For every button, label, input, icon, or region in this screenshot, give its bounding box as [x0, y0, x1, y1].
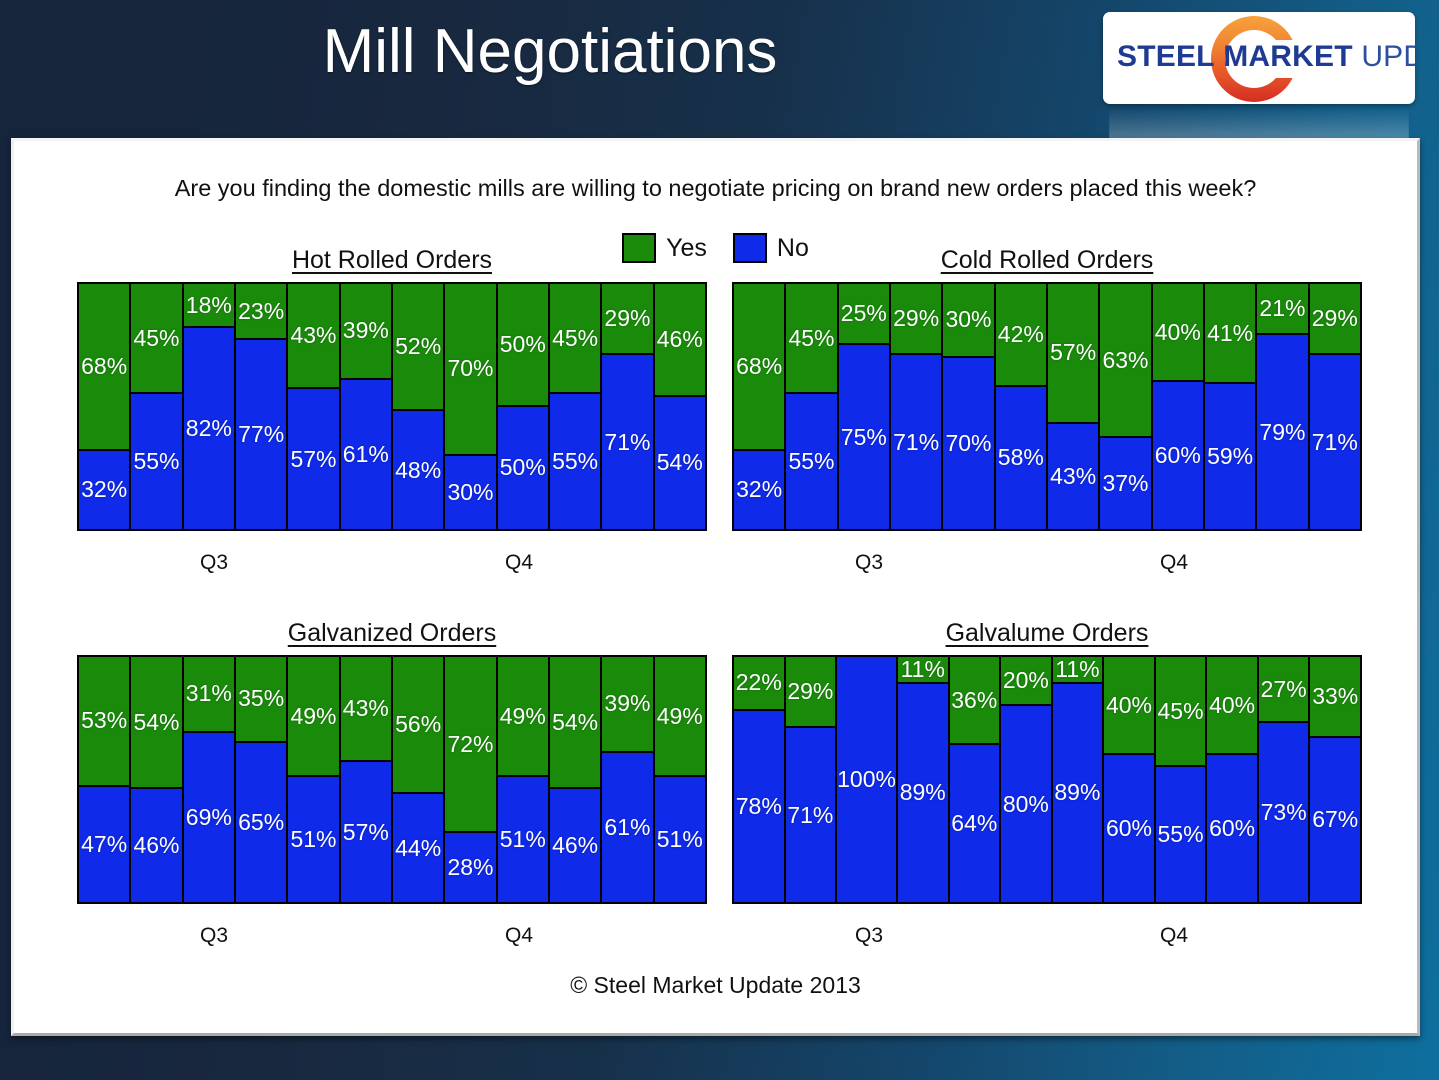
plot-area-galvanized-orders: 53%47%54%46%31%69%35%65%49%51%43%57%56%4…	[77, 655, 707, 904]
bar-value-label-no: 78%	[736, 795, 782, 818]
stacked-bar: 49%51%	[288, 657, 340, 902]
bar-segment-no: 37%	[1100, 438, 1150, 529]
stacked-bar: 45%55%	[1156, 657, 1208, 902]
stacked-bar: 63%37%	[1100, 284, 1152, 529]
bar-value-label-no: 28%	[447, 856, 493, 879]
bar-value-label-no: 89%	[1054, 781, 1100, 804]
axis-tick-label-q3: Q3	[200, 551, 228, 575]
bar-value-label-yes: 68%	[81, 355, 127, 378]
bar-value-label-no: 50%	[500, 456, 546, 479]
bar-value-label-no: 54%	[657, 451, 703, 474]
bar-segment-no: 70%	[943, 358, 993, 530]
bar-value-label-no: 58%	[998, 446, 1044, 469]
bar-value-label-no: 80%	[1003, 793, 1049, 816]
stacked-bar: 45%55%	[786, 284, 838, 529]
bar-segment-yes: 68%	[79, 284, 129, 451]
stacked-bar: 20%80%	[1001, 657, 1053, 902]
stacked-bar: 53%47%	[79, 657, 131, 902]
bar-segment-no: 57%	[341, 762, 391, 902]
bar-value-label-no: 57%	[343, 821, 389, 844]
bar-segment-no: 71%	[786, 728, 836, 902]
bar-segment-yes: 41%	[1205, 284, 1255, 384]
survey-question: Are you finding the domestic mills are w…	[14, 175, 1417, 202]
bar-value-label-no: 71%	[787, 804, 833, 827]
bar-segment-no: 55%	[1156, 767, 1206, 902]
bar-segment-yes: 45%	[1156, 657, 1206, 767]
x-axis-hot-rolled-orders: Q3Q4	[77, 531, 707, 577]
bar-segment-no: 46%	[550, 789, 600, 902]
bar-segment-yes: 11%	[898, 657, 948, 684]
chart-title-galvanized-orders: Galvanized Orders	[77, 619, 707, 648]
chart-title-cold-rolled-orders: Cold Rolled Orders	[732, 246, 1362, 275]
bar-value-label-no: 71%	[893, 431, 939, 454]
stacked-bar: 45%55%	[131, 284, 183, 529]
bar-segment-yes: 23%	[236, 284, 286, 340]
bar-value-label-yes: 20%	[1003, 669, 1049, 692]
bar-value-label-yes: 45%	[133, 327, 179, 350]
axis-tick-label-q3: Q3	[855, 551, 883, 575]
page-title: Mill Negotiations	[0, 16, 1100, 87]
bar-value-label-yes: 22%	[736, 671, 782, 694]
stacked-bar: 43%57%	[288, 284, 340, 529]
bar-segment-no: 65%	[236, 743, 286, 902]
stacked-bar: 21%79%	[1257, 284, 1309, 529]
stacked-bar: 29%71%	[602, 284, 654, 529]
axis-tick-label-q4: Q4	[505, 924, 533, 948]
bar-segment-no: 43%	[1048, 424, 1098, 529]
bar-value-label-yes: 29%	[604, 307, 650, 330]
bar-value-label-no: 71%	[604, 431, 650, 454]
plot-area-hot-rolled-orders: 68%32%45%55%18%82%23%77%43%57%39%61%52%4…	[77, 282, 707, 531]
bar-value-label-yes: 70%	[447, 357, 493, 380]
bar-value-label-no: 46%	[552, 834, 598, 857]
stacked-bar: 50%50%	[498, 284, 550, 529]
bar-segment-yes: 29%	[1310, 284, 1360, 355]
chart-galvanized-orders: Galvanized Orders53%47%54%46%31%69%35%65…	[77, 619, 707, 950]
stacked-bar: 18%82%	[184, 284, 236, 529]
bar-segment-no: 55%	[131, 394, 181, 529]
bar-value-label-no: 55%	[552, 450, 598, 473]
bar-value-label-no: 61%	[343, 443, 389, 466]
bar-value-label-yes: 18%	[186, 294, 232, 317]
bar-value-label-no: 60%	[1155, 444, 1201, 467]
plot-area-cold-rolled-orders: 68%32%45%55%25%75%29%71%30%70%42%58%57%4…	[732, 282, 1362, 531]
bar-segment-yes: 63%	[1100, 284, 1150, 438]
bar-segment-no: 51%	[655, 777, 705, 902]
stacked-bar: 54%46%	[131, 657, 183, 902]
bar-segment-yes: 40%	[1207, 657, 1257, 755]
stacked-bar: 45%55%	[550, 284, 602, 529]
bar-segment-no: 58%	[996, 387, 1046, 529]
slide-content-panel: Are you finding the domestic mills are w…	[11, 138, 1420, 1036]
bar-segment-yes: 68%	[734, 284, 784, 451]
bar-value-label-no: 100%	[837, 768, 896, 791]
stacked-bar: 40%60%	[1207, 657, 1259, 902]
bar-segment-yes: 30%	[943, 284, 993, 358]
bar-segment-no: 71%	[1310, 355, 1360, 529]
logo-card: STEEL MARKET UPDATE	[1103, 12, 1415, 104]
stacked-bar: 29%71%	[891, 284, 943, 529]
bar-value-label-yes: 43%	[290, 324, 336, 347]
bar-segment-yes: 49%	[655, 657, 705, 777]
bar-value-label-yes: 39%	[343, 319, 389, 342]
bar-segment-no: 32%	[734, 451, 784, 529]
bar-segment-no: 69%	[184, 733, 234, 902]
copyright-notice: © Steel Market Update 2013	[14, 972, 1417, 999]
bar-segment-no: 77%	[236, 340, 286, 529]
bar-value-label-no: 43%	[1050, 465, 1096, 488]
bar-value-label-yes: 33%	[1312, 685, 1358, 708]
plot-area-galvalume-orders: 22%78%29%71%100%11%89%36%64%20%80%11%89%…	[732, 655, 1362, 904]
stacked-bar: 40%60%	[1153, 284, 1205, 529]
bar-value-label-yes: 56%	[395, 713, 441, 736]
bar-segment-yes: 39%	[602, 657, 652, 753]
bar-segment-no: 59%	[1205, 384, 1255, 529]
bar-value-label-no: 89%	[900, 781, 946, 804]
logo-word-update: UPDATE	[1361, 40, 1415, 73]
axis-tick-label-q3: Q3	[855, 924, 883, 948]
bar-value-label-no: 69%	[186, 806, 232, 829]
bar-segment-yes: 72%	[445, 657, 495, 833]
bar-value-label-yes: 39%	[604, 692, 650, 715]
bar-segment-no: 71%	[602, 355, 652, 529]
bar-value-label-no: 59%	[1207, 445, 1253, 468]
bar-value-label-no: 65%	[238, 811, 284, 834]
bar-segment-yes: 18%	[184, 284, 234, 328]
bar-value-label-no: 82%	[186, 417, 232, 440]
bar-value-label-yes: 30%	[945, 308, 991, 331]
bar-segment-yes: 45%	[550, 284, 600, 394]
bar-segment-yes: 20%	[1001, 657, 1051, 706]
bar-segment-yes: 40%	[1104, 657, 1154, 755]
axis-tick-label-q4: Q4	[1160, 924, 1188, 948]
bar-segment-yes: 29%	[891, 284, 941, 355]
stacked-bar: 22%78%	[734, 657, 786, 902]
bar-segment-yes: 40%	[1153, 284, 1203, 382]
bar-value-label-yes: 57%	[1050, 341, 1096, 364]
bar-value-label-yes: 27%	[1261, 678, 1307, 701]
bar-segment-no: 71%	[891, 355, 941, 529]
bar-segment-yes: 52%	[393, 284, 443, 411]
logo-word-steel: STEEL	[1117, 40, 1215, 73]
stacked-bar: 57%43%	[1048, 284, 1100, 529]
bar-segment-no: 75%	[839, 345, 889, 529]
bar-value-label-yes: 49%	[500, 705, 546, 728]
bar-value-label-no: 71%	[1312, 431, 1358, 454]
bar-segment-no: 78%	[734, 711, 784, 902]
bar-segment-no: 51%	[498, 777, 548, 902]
bar-segment-no: 44%	[393, 794, 443, 902]
bar-value-label-yes: 25%	[841, 302, 887, 325]
stacked-bar: 35%65%	[236, 657, 288, 902]
bar-value-label-yes: 46%	[657, 328, 703, 351]
bar-value-label-no: 30%	[447, 481, 493, 504]
bar-value-label-yes: 21%	[1259, 297, 1305, 320]
bar-segment-no: 60%	[1104, 755, 1154, 902]
bar-value-label-no: 44%	[395, 837, 441, 860]
bar-value-label-no: 51%	[290, 828, 336, 851]
bar-segment-yes: 54%	[131, 657, 181, 789]
bar-segment-yes: 53%	[79, 657, 129, 787]
stacked-bar: 42%58%	[996, 284, 1048, 529]
stacked-bar: 33%67%	[1310, 657, 1360, 902]
bar-value-label-no: 57%	[290, 448, 336, 471]
bar-value-label-yes: 35%	[238, 687, 284, 710]
bar-segment-no: 48%	[393, 411, 443, 529]
bar-value-label-no: 77%	[238, 423, 284, 446]
bar-value-label-no: 32%	[736, 478, 782, 501]
bar-segment-no: 80%	[1001, 706, 1051, 902]
bar-value-label-yes: 49%	[657, 705, 703, 728]
axis-tick-label-q3: Q3	[200, 924, 228, 948]
chart-title-hot-rolled-orders: Hot Rolled Orders	[77, 246, 707, 275]
bar-value-label-no: 79%	[1259, 421, 1305, 444]
bar-value-label-yes: 45%	[1158, 700, 1204, 723]
bar-segment-no: 28%	[445, 833, 495, 902]
bar-segment-yes: 49%	[288, 657, 338, 777]
axis-tick-label-q4: Q4	[1160, 551, 1188, 575]
bar-value-label-yes: 23%	[238, 300, 284, 323]
bar-value-label-no: 48%	[395, 459, 441, 482]
bar-value-label-no: 75%	[841, 426, 887, 449]
bar-segment-no: 30%	[445, 456, 495, 530]
bar-segment-yes: 49%	[498, 657, 548, 777]
bar-segment-no: 54%	[655, 397, 705, 529]
bar-segment-yes: 21%	[1257, 284, 1307, 335]
bar-segment-no: 73%	[1259, 723, 1309, 902]
chart-title-galvalume-orders: Galvalume Orders	[732, 619, 1362, 648]
bar-segment-yes: 42%	[996, 284, 1046, 387]
bar-value-label-yes: 45%	[552, 327, 598, 350]
bar-segment-no: 67%	[1310, 738, 1360, 902]
bar-segment-yes: 33%	[1310, 657, 1360, 738]
bar-segment-yes: 56%	[393, 657, 443, 794]
bar-segment-no: 61%	[341, 380, 391, 529]
bar-value-label-yes: 53%	[81, 709, 127, 732]
axis-tick-label-q4: Q4	[505, 551, 533, 575]
bar-value-label-yes: 31%	[186, 682, 232, 705]
stacked-bar: 46%54%	[655, 284, 705, 529]
bar-value-label-no: 73%	[1261, 801, 1307, 824]
chart-galvalume-orders: Galvalume Orders22%78%29%71%100%11%89%36…	[732, 619, 1362, 950]
bar-value-label-no: 60%	[1209, 817, 1255, 840]
stacked-bar: 52%48%	[393, 284, 445, 529]
bar-value-label-yes: 50%	[500, 333, 546, 356]
stacked-bar: 68%32%	[734, 284, 786, 529]
bar-value-label-no: 37%	[1102, 472, 1148, 495]
bar-value-label-yes: 45%	[788, 327, 834, 350]
bar-value-label-yes: 40%	[1106, 694, 1152, 717]
bar-segment-yes: 45%	[786, 284, 836, 394]
bar-segment-yes: 29%	[786, 657, 836, 728]
bar-value-label-no: 55%	[1158, 823, 1204, 846]
bar-value-label-yes: 49%	[290, 705, 336, 728]
bar-segment-yes: 22%	[734, 657, 784, 711]
stacked-bar: 68%32%	[79, 284, 131, 529]
bar-segment-yes: 45%	[131, 284, 181, 394]
stacked-bar: 70%30%	[445, 284, 497, 529]
stacked-bar: 72%28%	[445, 657, 497, 902]
bar-value-label-no: 60%	[1106, 817, 1152, 840]
stacked-bar: 41%59%	[1205, 284, 1257, 529]
bar-segment-yes: 25%	[839, 284, 889, 345]
bar-segment-no: 46%	[131, 789, 181, 902]
stacked-bar: 29%71%	[1310, 284, 1360, 529]
stacked-bar: 43%57%	[341, 657, 393, 902]
logo-wordmark: STEEL MARKET UPDATE	[1117, 40, 1407, 80]
bar-segment-no: 55%	[786, 394, 836, 529]
bar-value-label-no: 64%	[951, 812, 997, 835]
bar-value-label-yes: 72%	[447, 733, 493, 756]
bar-segment-no: 89%	[898, 684, 948, 902]
bar-segment-no: 51%	[288, 777, 338, 902]
slide-header: Mill Negotiations STEEL MARKET UPDATE	[0, 0, 1439, 138]
chart-cold-rolled-orders: Cold Rolled Orders68%32%45%55%25%75%29%7…	[732, 246, 1362, 577]
bar-value-label-yes: 11%	[901, 658, 945, 681]
bar-segment-yes: 36%	[950, 657, 1000, 745]
bar-value-label-yes: 42%	[998, 323, 1044, 346]
bar-segment-no: 100%	[837, 657, 896, 902]
stacked-bar: 36%64%	[950, 657, 1002, 902]
stacked-bar: 39%61%	[341, 284, 393, 529]
stacked-bar: 27%73%	[1259, 657, 1311, 902]
bar-value-label-yes: 63%	[1102, 349, 1148, 372]
bar-value-label-yes: 40%	[1155, 321, 1201, 344]
bar-segment-yes: 31%	[184, 657, 234, 733]
bar-value-label-yes: 43%	[343, 697, 389, 720]
bar-segment-no: 64%	[950, 745, 1000, 902]
bar-segment-yes: 43%	[341, 657, 391, 762]
stacked-bar: 29%71%	[786, 657, 838, 902]
bar-segment-no: 89%	[1053, 684, 1103, 902]
bar-segment-no: 79%	[1257, 335, 1307, 529]
bar-segment-yes: 50%	[498, 284, 548, 407]
bar-value-label-yes: 36%	[951, 689, 997, 712]
bar-value-label-yes: 29%	[893, 307, 939, 330]
stacked-bar: 100%	[837, 657, 898, 902]
bar-segment-yes: 46%	[655, 284, 705, 397]
bar-segment-yes: 57%	[1048, 284, 1098, 424]
bar-value-label-no: 55%	[788, 450, 834, 473]
stacked-bar: 11%89%	[1053, 657, 1105, 902]
stacked-bar: 40%60%	[1104, 657, 1156, 902]
bar-value-label-yes: 54%	[133, 711, 179, 734]
stacked-bar: 39%61%	[602, 657, 654, 902]
bar-value-label-yes: 68%	[736, 355, 782, 378]
bar-segment-no: 50%	[498, 407, 548, 530]
stacked-bar: 49%51%	[655, 657, 705, 902]
bar-segment-no: 57%	[288, 389, 338, 529]
bar-segment-no: 55%	[550, 394, 600, 529]
bar-value-label-yes: 29%	[787, 680, 833, 703]
bar-segment-no: 61%	[602, 753, 652, 902]
stacked-bar: 23%77%	[236, 284, 288, 529]
stacked-bar: 56%44%	[393, 657, 445, 902]
stacked-bar: 54%46%	[550, 657, 602, 902]
bar-value-label-no: 51%	[657, 828, 703, 851]
bar-segment-no: 60%	[1207, 755, 1257, 902]
bar-value-label-yes: 41%	[1207, 322, 1253, 345]
bar-value-label-yes: 52%	[395, 335, 441, 358]
bar-value-label-no: 61%	[604, 816, 650, 839]
bar-segment-no: 82%	[184, 328, 234, 529]
bar-value-label-no: 32%	[81, 478, 127, 501]
bar-value-label-no: 47%	[81, 833, 127, 856]
bar-value-label-yes: 40%	[1209, 694, 1255, 717]
stacked-bar: 30%70%	[943, 284, 995, 529]
stacked-bar: 31%69%	[184, 657, 236, 902]
bar-segment-yes: 43%	[288, 284, 338, 389]
steel-market-update-logo: STEEL MARKET UPDATE	[1103, 12, 1415, 134]
logo-word-market: MARKET	[1223, 40, 1353, 73]
bar-value-label-yes: 29%	[1312, 307, 1358, 330]
bar-segment-yes: 39%	[341, 284, 391, 380]
bar-segment-yes: 54%	[550, 657, 600, 789]
x-axis-galvanized-orders: Q3Q4	[77, 904, 707, 950]
bar-segment-yes: 35%	[236, 657, 286, 743]
bar-segment-yes: 70%	[445, 284, 495, 456]
bar-segment-yes: 27%	[1259, 657, 1309, 723]
bar-value-label-yes: 11%	[1055, 658, 1099, 681]
chart-hot-rolled-orders: Hot Rolled Orders68%32%45%55%18%82%23%77…	[77, 246, 707, 577]
bar-segment-no: 32%	[79, 451, 129, 529]
bar-value-label-no: 70%	[945, 432, 991, 455]
x-axis-galvalume-orders: Q3Q4	[732, 904, 1362, 950]
bar-segment-yes: 29%	[602, 284, 652, 355]
bar-value-label-yes: 54%	[552, 711, 598, 734]
bar-segment-yes: 11%	[1053, 657, 1103, 684]
bar-value-label-no: 67%	[1312, 808, 1358, 831]
stacked-bar: 25%75%	[839, 284, 891, 529]
bar-segment-no: 60%	[1153, 382, 1203, 529]
stacked-bar: 49%51%	[498, 657, 550, 902]
bar-value-label-no: 51%	[500, 828, 546, 851]
bar-segment-no: 47%	[79, 787, 129, 902]
x-axis-cold-rolled-orders: Q3Q4	[732, 531, 1362, 577]
bar-value-label-no: 46%	[133, 834, 179, 857]
bar-value-label-no: 55%	[133, 450, 179, 473]
stacked-bar: 11%89%	[898, 657, 950, 902]
